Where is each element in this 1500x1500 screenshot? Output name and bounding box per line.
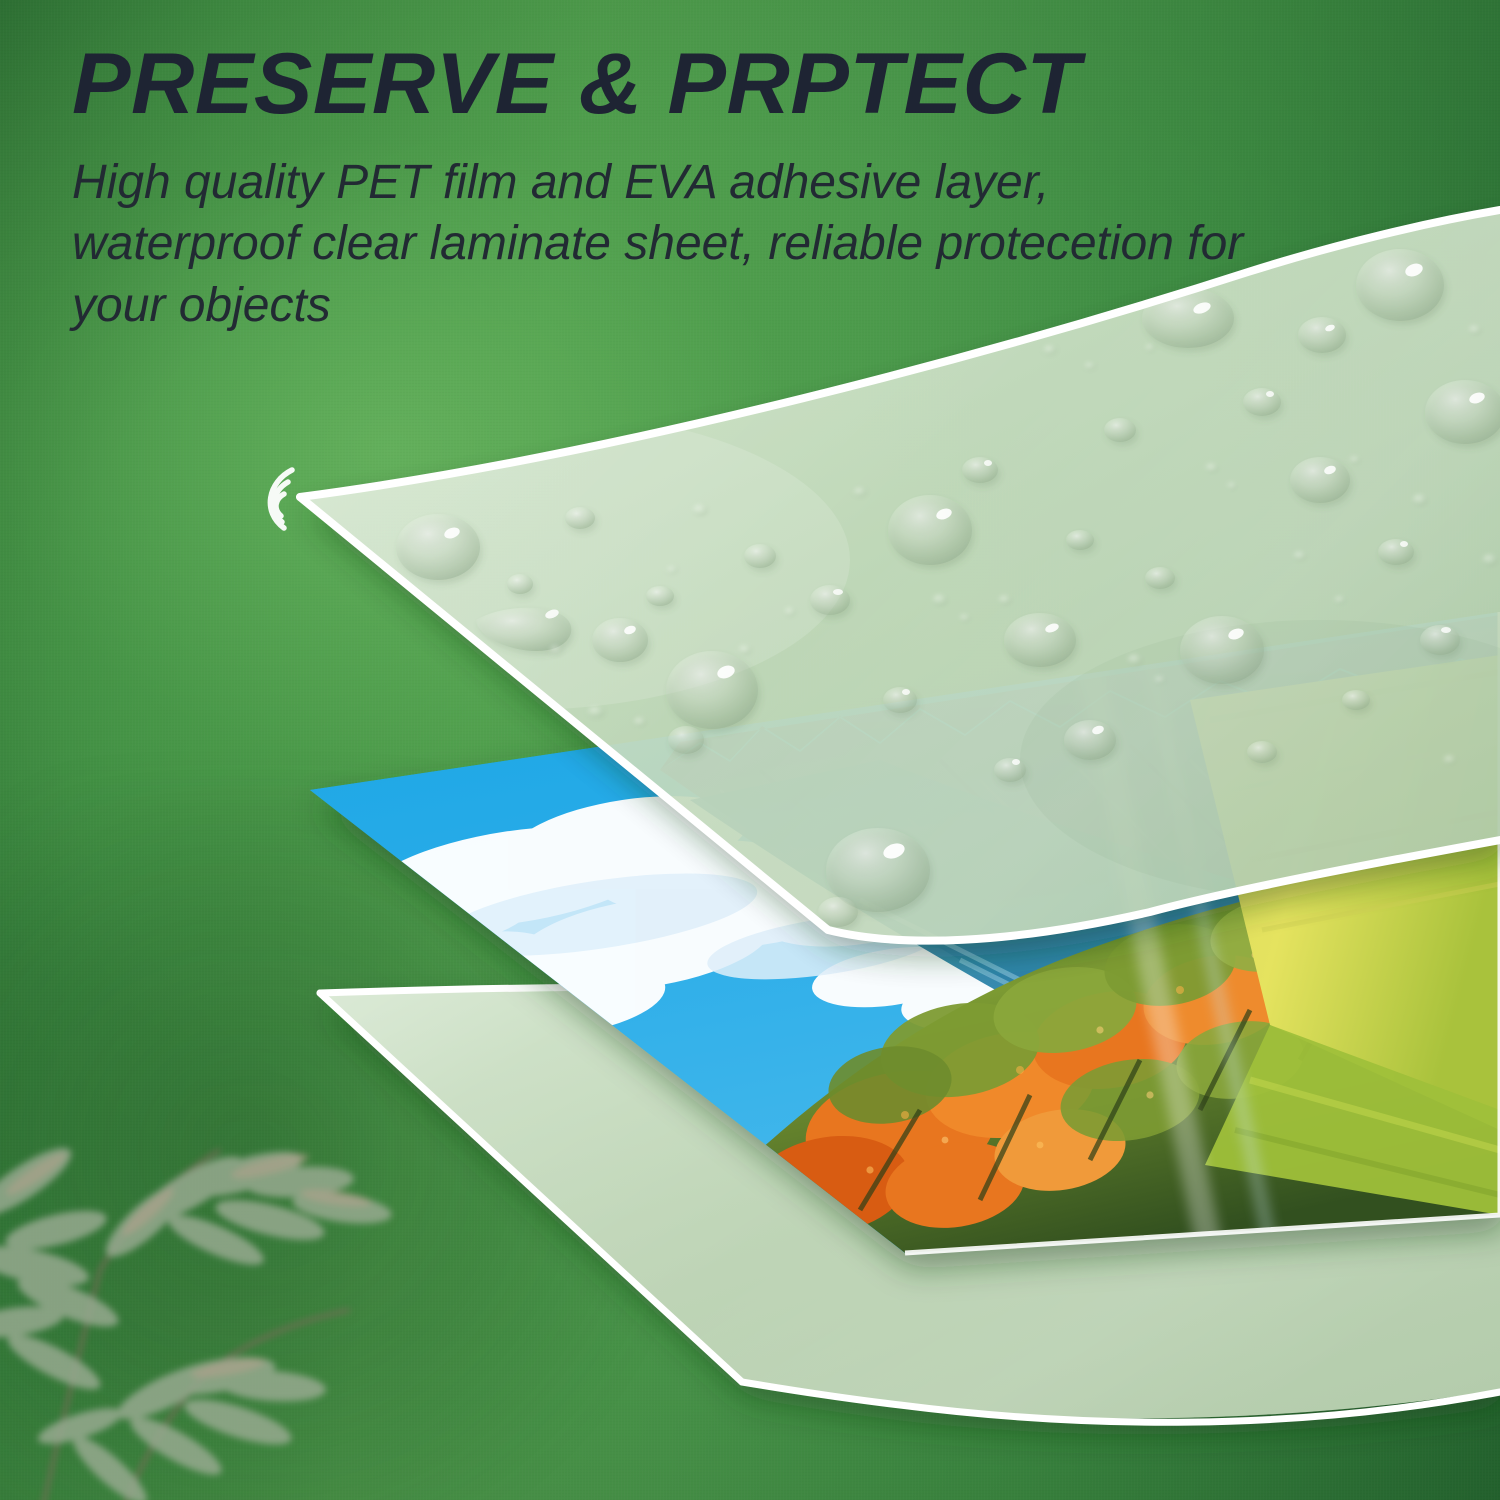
peel-corner-icon <box>270 470 292 528</box>
body-copy: High quality PET film and EVA adhesive l… <box>72 152 1252 336</box>
page-title: PRESERVE & PRPTECT <box>72 44 1480 126</box>
leaf-decoration <box>0 1070 440 1500</box>
product-marketing-image: PRESERVE & PRPTECT High quality PET film… <box>0 0 1500 1500</box>
copy-block: PRESERVE & PRPTECT High quality PET film… <box>72 44 1452 336</box>
